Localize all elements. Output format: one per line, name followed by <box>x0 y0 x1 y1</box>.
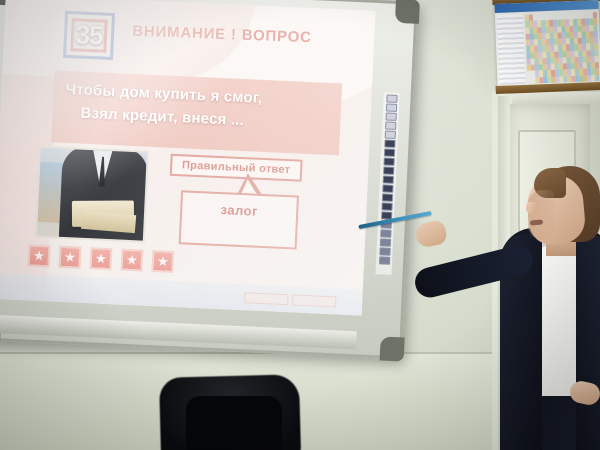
score-badge: 35 <box>63 11 115 60</box>
star-icon <box>33 250 44 261</box>
whiteboard-tool-button[interactable] <box>384 139 395 147</box>
footer-chip-1 <box>244 292 288 305</box>
star-square <box>27 244 50 267</box>
whiteboard-tool-button[interactable] <box>386 94 397 102</box>
teacher-hand <box>414 219 448 249</box>
teacher-face-shading <box>528 190 554 240</box>
periodic-table-chart <box>494 0 600 87</box>
star-icon <box>157 256 168 267</box>
interactive-whiteboard[interactable]: 35 ВНИМАНИЕ ! ВОПРОС Чтобы дом купить я … <box>0 0 418 359</box>
whiteboard-tool-button[interactable] <box>378 256 389 264</box>
whiteboard-tool-button[interactable] <box>379 247 390 255</box>
poster-grid <box>525 12 600 84</box>
footer-chip-2 <box>292 294 336 307</box>
money-photo <box>35 146 149 243</box>
star-icon <box>64 252 75 263</box>
star-icon <box>126 254 137 265</box>
teacher-nose <box>526 202 536 214</box>
whiteboard-tool-button[interactable] <box>381 193 392 201</box>
whiteboard-tool-button[interactable] <box>379 238 390 246</box>
projected-slide: 35 ВНИМАНИЕ ! ВОПРОС Чтобы дом купить я … <box>0 0 375 316</box>
whiteboard-tool-button[interactable] <box>381 202 392 210</box>
star-icon <box>95 253 106 264</box>
teacher <box>400 150 600 450</box>
door-lintel <box>498 92 600 104</box>
whiteboard-tool-button[interactable] <box>382 175 393 183</box>
whiteboard-tool-button[interactable] <box>383 166 394 174</box>
whiteboard-surface[interactable]: 35 ВНИМАНИЕ ! ВОПРОС Чтобы дом купить я … <box>0 0 375 316</box>
star-square <box>151 250 174 273</box>
whiteboard-tool-button[interactable] <box>383 157 394 165</box>
answer-callout-box <box>179 190 299 249</box>
teacher-cardigan-right <box>576 236 600 450</box>
star-row <box>27 244 174 273</box>
whiteboard-tool-button[interactable] <box>382 184 393 192</box>
classroom-photo: 35 ВНИМАНИЕ ! ВОПРОС Чтобы дом купить я … <box>0 0 600 450</box>
poster-side-column <box>497 14 526 85</box>
whiteboard-tool-button[interactable] <box>385 112 396 120</box>
star-square <box>58 246 81 269</box>
star-square <box>120 249 143 272</box>
whiteboard-tool-button[interactable] <box>380 229 391 237</box>
question-band: Чтобы дом купить я смог, Взял кредит, вн… <box>51 70 342 155</box>
office-chair-seat <box>186 396 282 450</box>
whiteboard-tool-button[interactable] <box>384 130 395 138</box>
wall-poster <box>492 0 600 94</box>
correct-answer-label-box: Правильный ответ <box>170 154 303 182</box>
score-value: 35 <box>75 19 103 51</box>
correct-answer-label: Правильный ответ <box>182 159 291 176</box>
star-square <box>89 247 112 270</box>
poster-cell <box>595 75 599 81</box>
whiteboard-tool-button[interactable] <box>385 103 396 111</box>
whiteboard-tool-button[interactable] <box>383 148 394 156</box>
frame-corner-top-right <box>395 0 420 24</box>
whiteboard-tool-button[interactable] <box>385 121 396 129</box>
